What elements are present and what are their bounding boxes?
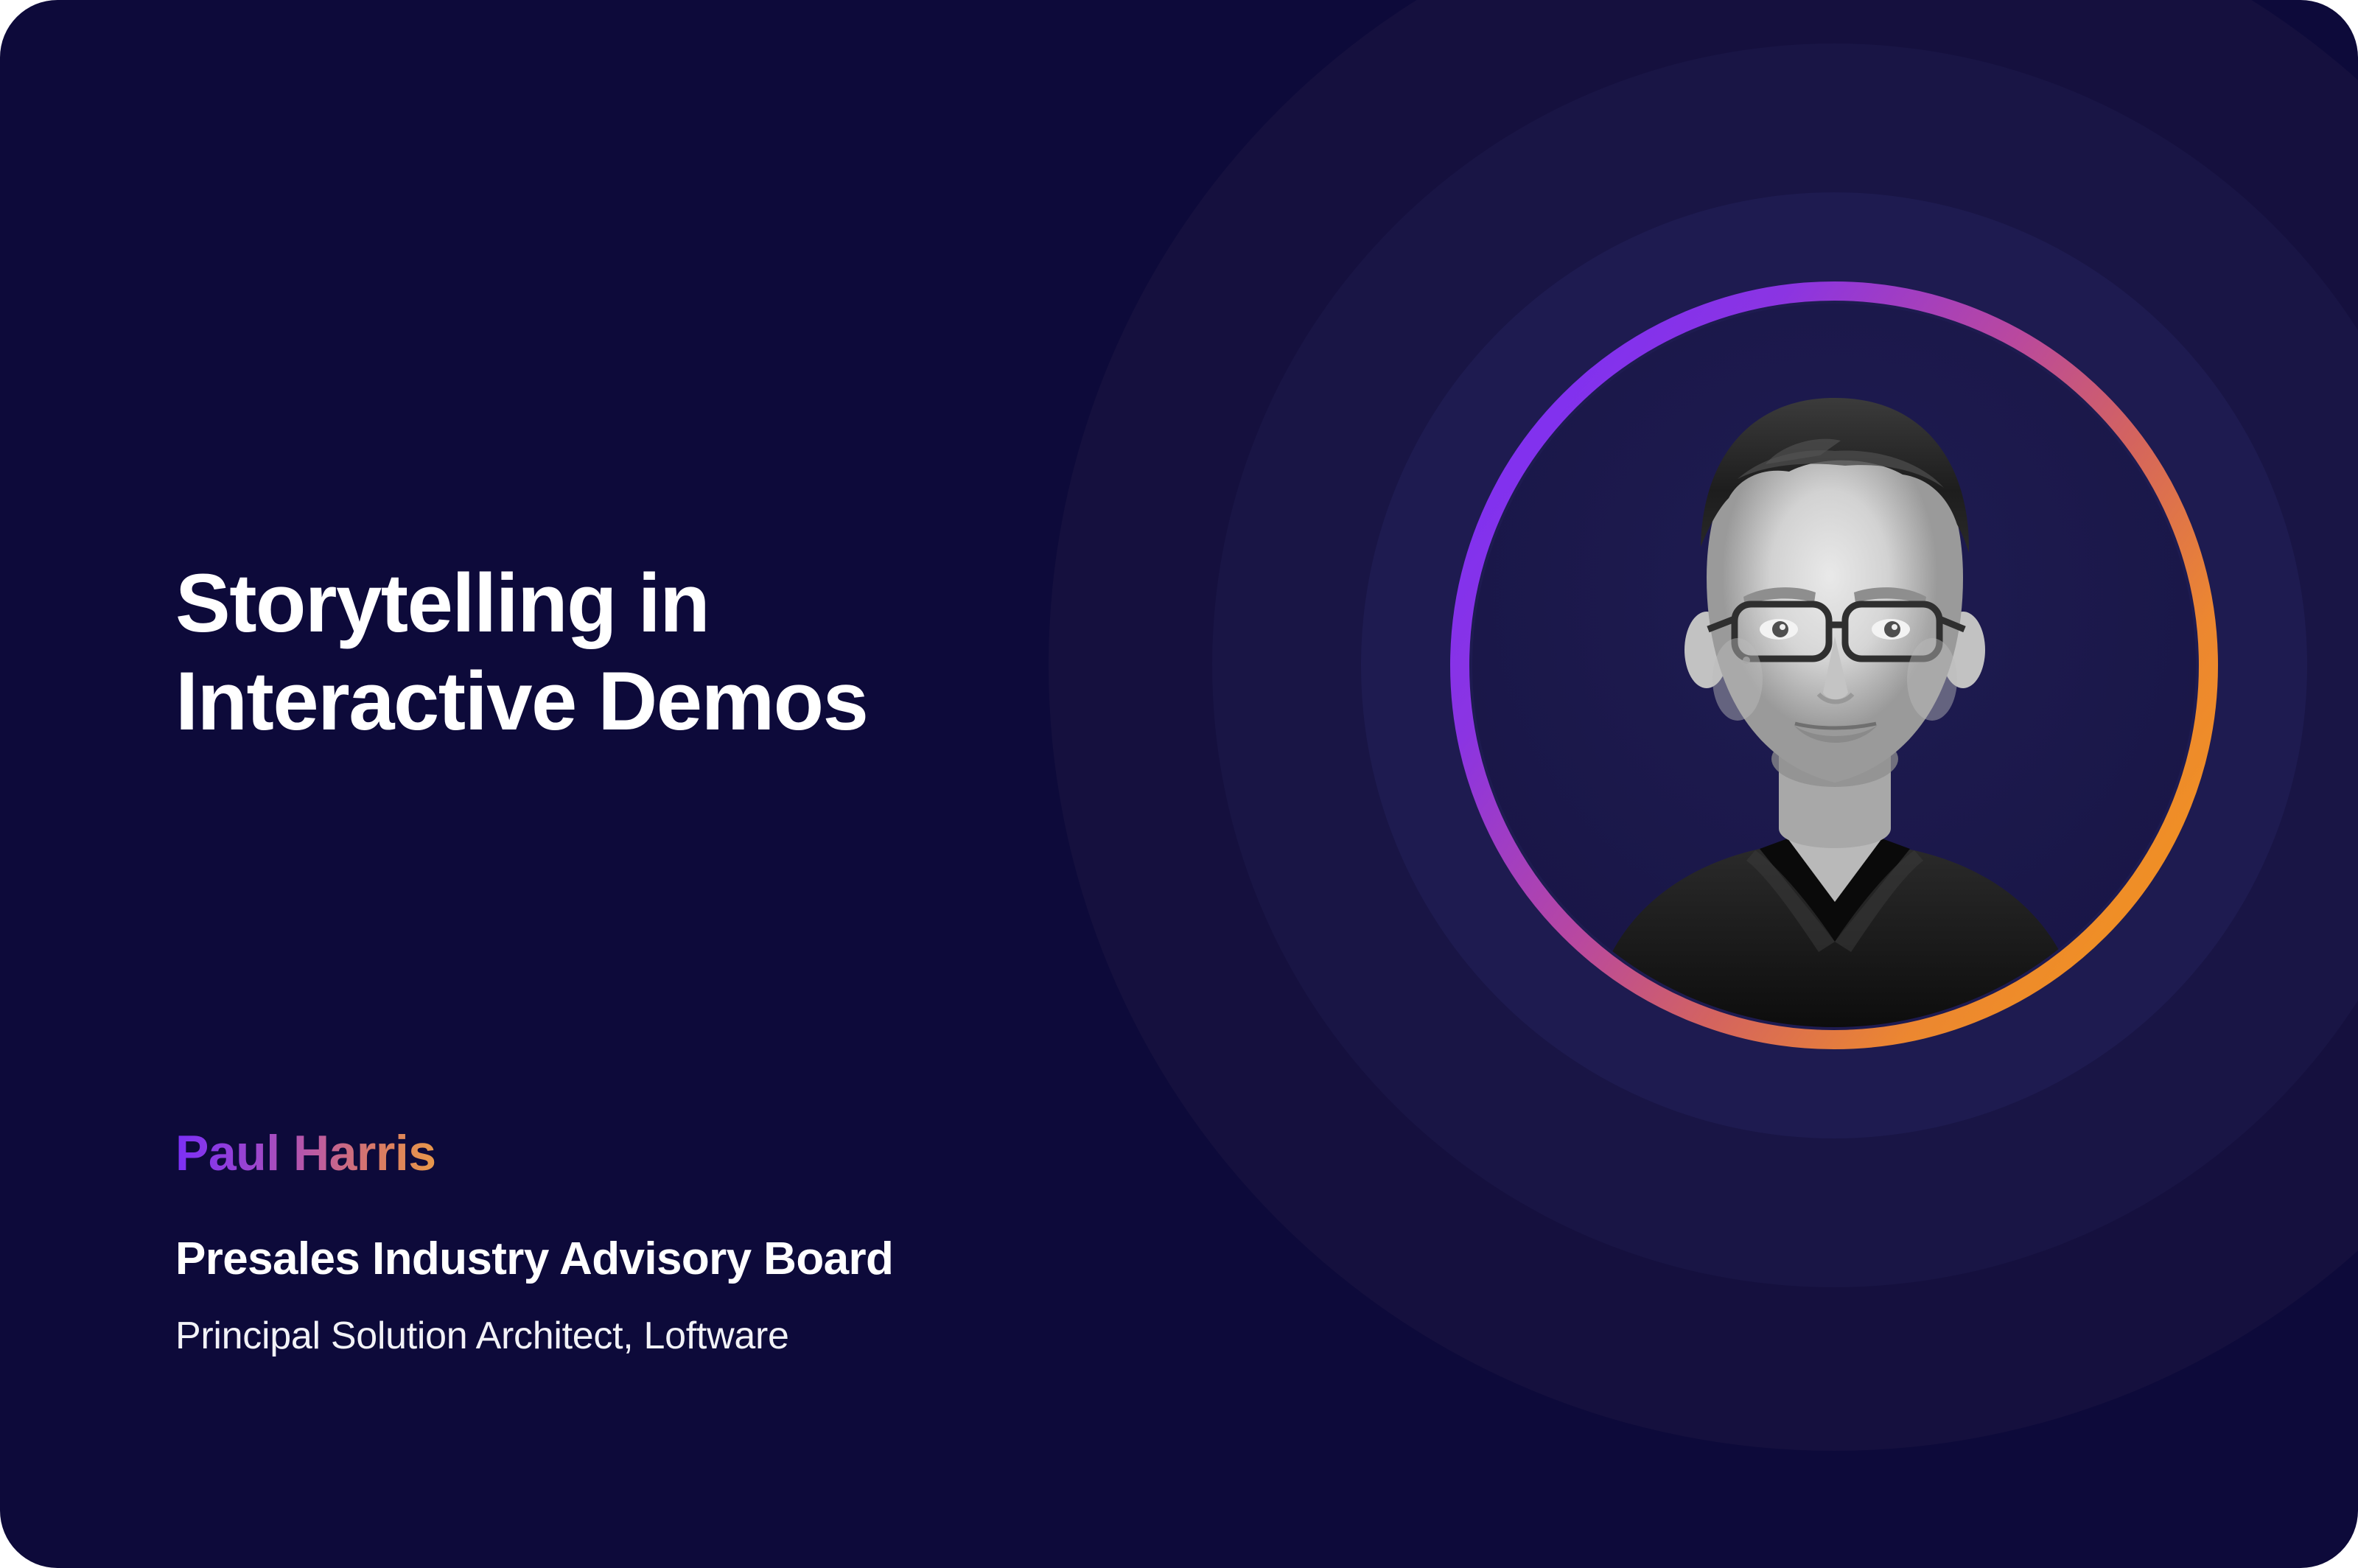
presentation-slide: Storytelling in Interactive Demos Paul H…	[0, 0, 2358, 1568]
speaker-subtitle: Principal Solution Architect, Loftware	[175, 1315, 1207, 1357]
gradient-ring	[1450, 281, 2218, 1049]
slide-title: Storytelling in Interactive Demos	[175, 554, 1155, 751]
speaker-role: Presales Industry Advisory Board	[175, 1234, 1207, 1284]
title-line-1: Storytelling in	[175, 554, 1155, 652]
speaker-name: Paul Harris	[175, 1126, 436, 1181]
speaker-info: Paul Harris Presales Industry Advisory B…	[175, 1126, 1207, 1357]
title-line-2: Interactive Demos	[175, 652, 1155, 750]
speaker-portrait	[1450, 281, 2218, 1049]
